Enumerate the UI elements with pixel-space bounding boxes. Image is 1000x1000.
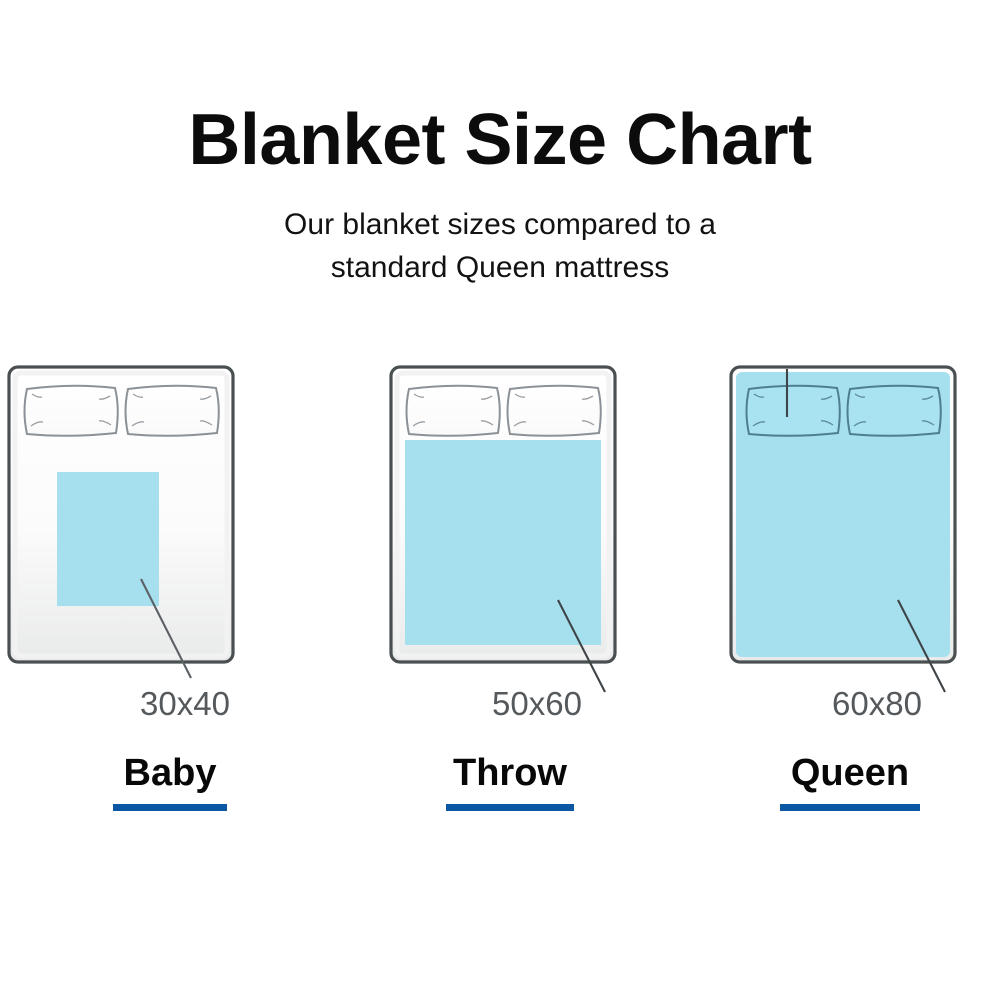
size-name-block-throw: Throw: [340, 754, 680, 811]
bed-column-queen: 60x80 Queen: [680, 360, 1000, 830]
bed-illustration-throw: 50x60: [340, 360, 680, 735]
bed-illustration-queen: 60x80: [680, 360, 1000, 735]
dimension-label-baby: 30x40: [140, 685, 230, 722]
blanket-area-throw: [405, 440, 601, 645]
size-name-block-queen: Queen: [680, 754, 1000, 811]
pillow-left: [25, 386, 118, 436]
name-underline-throw: [446, 804, 574, 811]
header: Blanket Size Chart Our blanket sizes com…: [0, 0, 1000, 289]
bed-column-throw: 50x60 Throw: [340, 360, 680, 830]
name-underline-queen: [780, 804, 920, 811]
page-title: Blanket Size Chart: [0, 0, 1000, 176]
subtitle-line-2: standard Queen mattress: [0, 247, 1000, 290]
bed-illustrations-row: 30x40 Baby: [0, 360, 1000, 830]
dimension-label-queen: 60x80: [832, 685, 922, 722]
bed-illustration-baby: 30x40: [0, 360, 340, 735]
subtitle-line-1: Our blanket sizes compared to a: [0, 204, 1000, 247]
page-subtitle: Our blanket sizes compared to a standard…: [0, 176, 1000, 289]
pillow-left: [407, 386, 500, 436]
bed-column-baby: 30x40 Baby: [0, 360, 340, 830]
dimension-label-throw: 50x60: [492, 685, 582, 722]
name-underline-baby: [113, 804, 227, 811]
size-name-queen: Queen: [791, 754, 909, 792]
size-name-throw: Throw: [453, 754, 567, 792]
size-name-baby: Baby: [124, 754, 217, 792]
pillow-right: [126, 386, 219, 436]
pillow-left: [747, 386, 840, 436]
blanket-size-chart-infographic: Blanket Size Chart Our blanket sizes com…: [0, 0, 1000, 1000]
size-name-block-baby: Baby: [0, 754, 340, 811]
pillow-right: [508, 386, 601, 436]
pillow-right: [848, 386, 941, 436]
